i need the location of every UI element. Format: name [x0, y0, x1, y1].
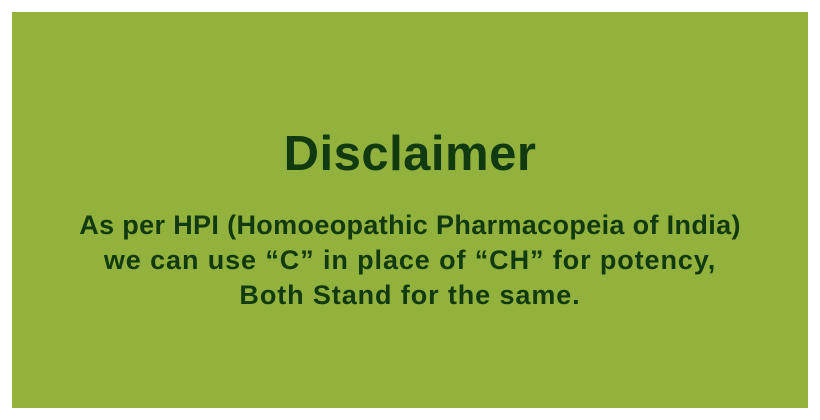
screenshot-canvas: Disclaimer As per HPI (Homoeopathic Phar…: [0, 0, 820, 420]
disclaimer-line-2: we can use “C” in place of “CH” for pote…: [12, 243, 808, 278]
disclaimer-panel: Disclaimer As per HPI (Homoeopathic Phar…: [12, 12, 808, 408]
disclaimer-line-3: Both Stand for the same.: [12, 278, 808, 313]
disclaimer-line-1: As per HPI (Homoeopathic Pharmacopeia of…: [12, 208, 808, 243]
page-title: Disclaimer: [12, 126, 808, 182]
disclaimer-body: As per HPI (Homoeopathic Pharmacopeia of…: [12, 208, 808, 313]
